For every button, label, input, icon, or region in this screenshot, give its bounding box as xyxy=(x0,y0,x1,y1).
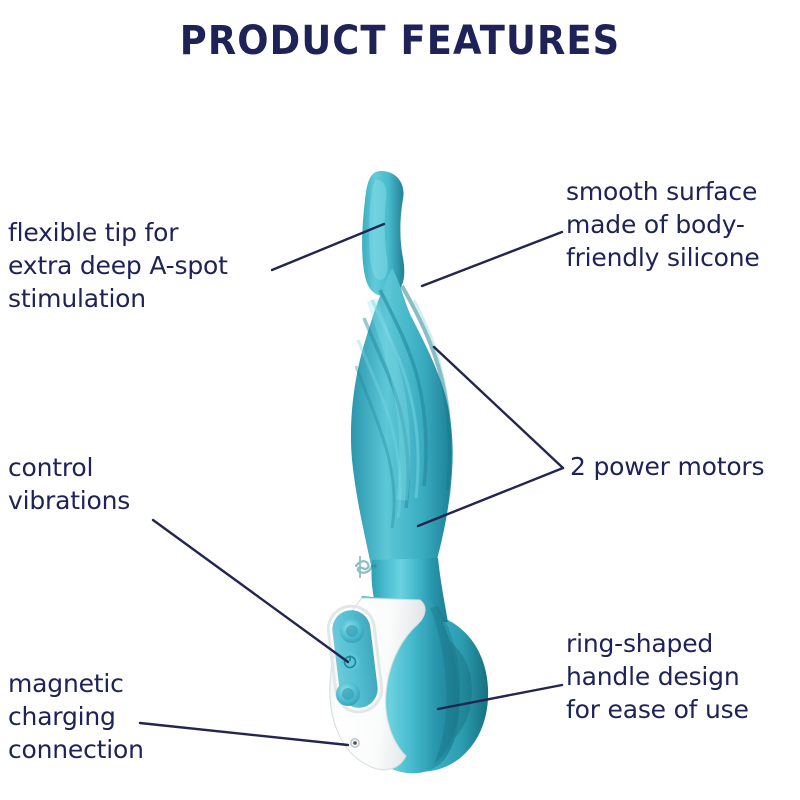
callout-power-motors: 2 power motors xyxy=(570,450,800,483)
product-features-infographic: PRODUCT FEATURES xyxy=(0,0,800,800)
product-body xyxy=(326,171,488,773)
callout-ring-handle: ring-shaped handle design for ease of us… xyxy=(566,627,800,726)
intensity-up-button[interactable] xyxy=(340,619,364,643)
leader-power-motors-top xyxy=(434,347,563,468)
callout-magnetic-charging: magnetic charging connection xyxy=(8,667,298,766)
intensity-down-button[interactable] xyxy=(336,682,360,706)
callout-control-vibrations: control vibrations xyxy=(8,451,288,517)
leader-smooth-surface xyxy=(422,232,562,286)
leader-control-vibrations xyxy=(153,520,348,662)
magnetic-charging-contact xyxy=(351,739,359,747)
callout-flexible-tip: flexible tip for extra deep A-spot stimu… xyxy=(8,216,298,315)
callout-smooth-surface: smooth surface made of body- friendly si… xyxy=(566,175,800,274)
power-button[interactable] xyxy=(341,653,359,671)
